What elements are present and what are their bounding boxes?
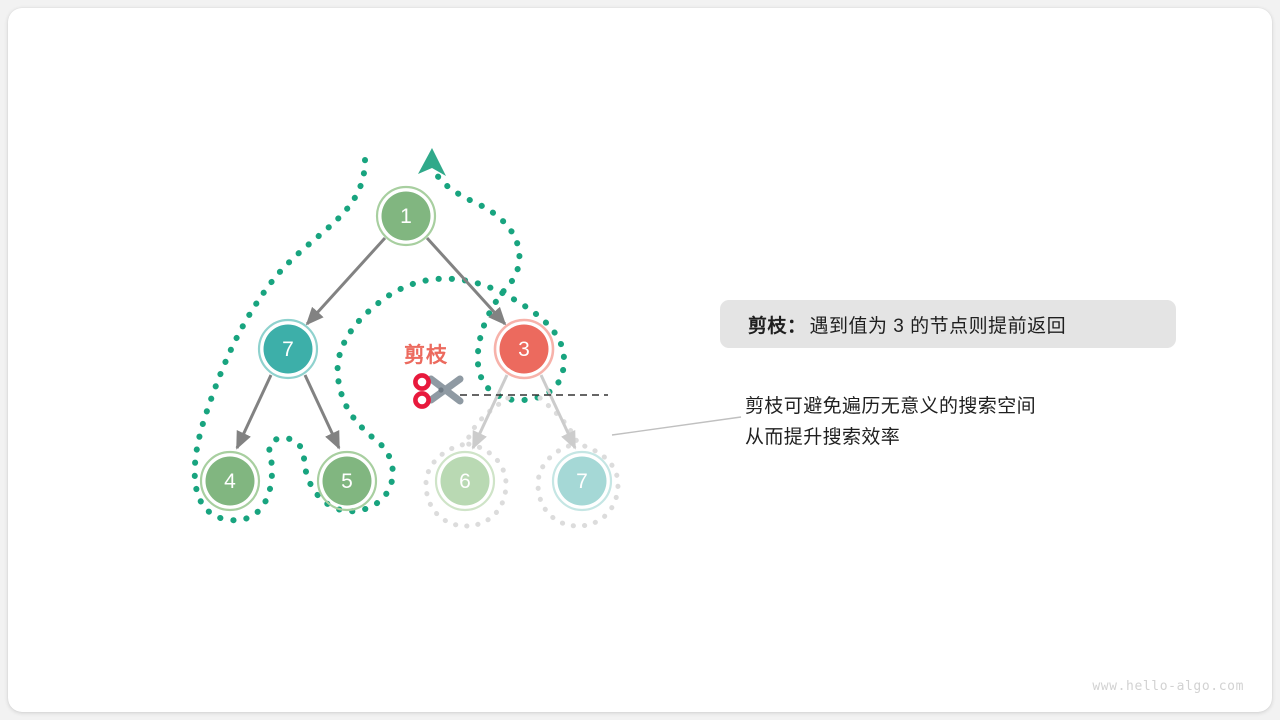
tree-node-7-left[interactable]	[259, 320, 317, 378]
site-watermark: www.hello-algo.com	[1092, 679, 1244, 694]
binary-tree-pruning-diagram	[8, 8, 1272, 712]
figure-canvas: 1 7 3 4 5 6 7 剪枝 剪枝： 遇到值为 3 的节点则提前返回 剪枝可…	[0, 0, 1280, 720]
prune-callout-text: 遇到值为 3 的节点则提前返回	[810, 311, 1067, 338]
edge-7-5	[305, 375, 339, 448]
prune-marker-label: 剪枝	[404, 339, 448, 369]
callout-connector-line	[612, 417, 741, 435]
tree-node-5[interactable]	[318, 452, 376, 510]
prune-callout-badge: 剪枝： 遇到值为 3 的节点则提前返回	[720, 300, 1176, 348]
traversal-arrowhead	[418, 148, 446, 176]
tree-node-1[interactable]	[377, 187, 435, 245]
tree-node-6-pruned[interactable]	[436, 452, 494, 510]
tree-node-3[interactable]	[495, 320, 553, 378]
edge-7-4	[237, 375, 271, 448]
prune-callout-prefix: 剪枝：	[748, 311, 807, 338]
tree-node-7-pruned[interactable]	[553, 452, 611, 510]
prune-explanation-note: 剪枝可避免遍历无意义的搜索空间 从而提升搜索效率	[745, 391, 1036, 453]
prune-note-line-2: 从而提升搜索效率	[745, 422, 1036, 453]
scissors-icon	[415, 375, 460, 406]
figure-card: 1 7 3 4 5 6 7 剪枝 剪枝： 遇到值为 3 的节点则提前返回 剪枝可…	[8, 8, 1272, 712]
prune-note-line-1: 剪枝可避免遍历无意义的搜索空间	[745, 391, 1036, 422]
edge-1-7	[307, 238, 385, 324]
tree-node-4[interactable]	[201, 452, 259, 510]
